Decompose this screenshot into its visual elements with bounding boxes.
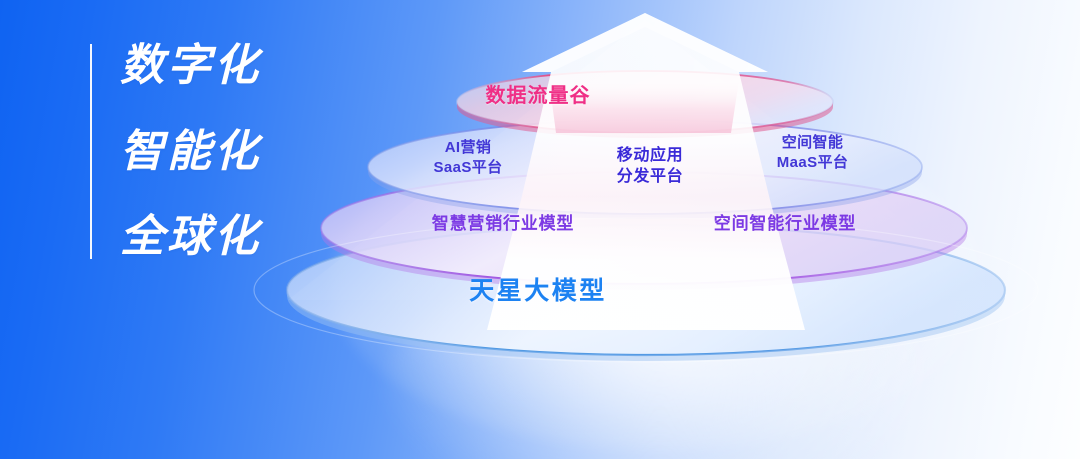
label-ai-marketing-line2: SaaS平台 [408,158,528,178]
label-tianxing-foundation-model: 天星大模型 [0,275,1078,308]
label-spatial-intelligence-maas: 空间智能 MaaS平台 [750,133,875,173]
label-ai-marketing-saas: AI营销 SaaS平台 [408,138,528,178]
label-mobile-app-line2: 分发平台 [585,166,715,187]
label-mobile-app-line1: 移动应用 [585,145,715,166]
headline-line-2: 智能化 [120,130,261,174]
label-spatial-maas-line1: 空间智能 [750,133,875,153]
label-spatial-intelligence-industry-model: 空间智能行业模型 [690,213,880,235]
headline-line-3: 全球化 [120,215,261,259]
headline-block: 数字化 智能化 全球化 [90,44,261,259]
label-mobile-app-distribution: 移动应用 分发平台 [585,145,715,187]
label-smart-marketing-industry-model: 智慧营销行业模型 [408,213,598,235]
label-data-traffic-valley: 数据流量谷 [0,83,1078,109]
headline-line-1: 数字化 [120,44,261,88]
label-spatial-maas-line2: MaaS平台 [750,153,875,173]
hero-banner: 数字化 智能化 全球化 数据流量谷 AI营销 SaaS平台 移动应用 分发平台 … [0,0,1080,459]
label-ai-marketing-line1: AI营销 [408,138,528,158]
